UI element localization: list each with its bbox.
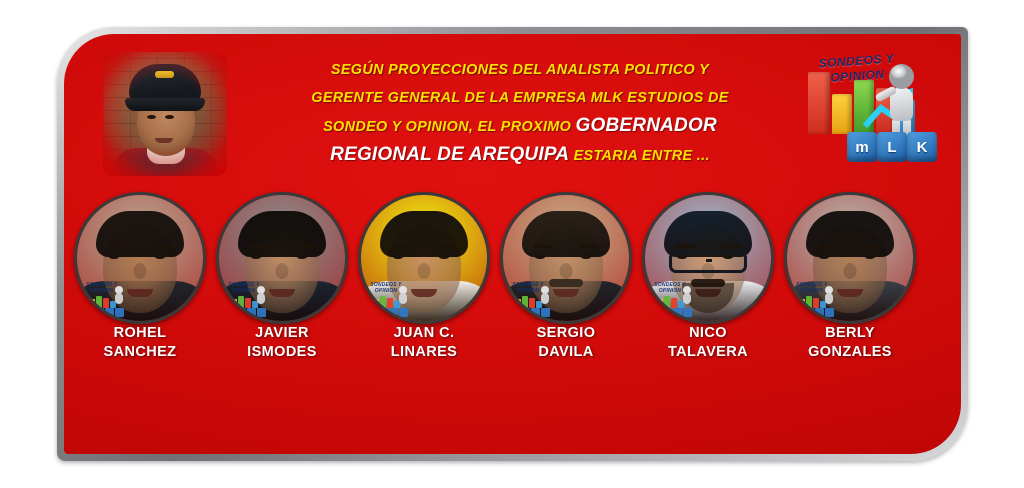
headline-line-3-prefix: SONDEO Y OPINION, EL PROXIMO [323,119,575,135]
logo-cube-l: L [877,132,907,162]
candidate-watermark-logo: SONDEOS YOPINION [365,283,411,317]
analyst-photo [103,52,227,176]
candidate-card[interactable]: SONDEOS YOPINIONJUAN C.LINARES [354,192,494,324]
candidate-card[interactable]: SONDEOS YOPINIONNICOTALAVERA [638,192,778,324]
candidate-watermark-logo: SONDEOS YOPINION [223,283,269,317]
candidate-watermark-logo: SONDEOS YOPINION [791,283,837,317]
candidate-watermark-logo: SONDEOS YOPINION [649,283,695,317]
candidate-last-name: DAVILA [496,343,636,362]
headline-line-4-suffix: ESTARIA ENTRE ... [569,148,710,164]
candidate-first-name: SERGIO [496,324,636,343]
candidate-first-name: BERLY [780,324,920,343]
candidate-card[interactable]: SONDEOS YOPINIONSERGIODAVILA [496,192,636,324]
analyst-photo-vignette [103,52,227,176]
poster-frame: SEGÚN PROYECCIONES DEL ANALISTA POLITICO… [57,27,968,461]
candidate-last-name: TALAVERA [638,343,778,362]
candidate-last-name: SANCHEZ [70,343,210,362]
candidate-portrait[interactable]: SONDEOS YOPINION [358,192,490,324]
candidate-portrait[interactable]: SONDEOS YOPINION [784,192,916,324]
headline-highlight-gobernador: GOBERNADOR [576,115,717,136]
candidate-last-name: ISMODES [212,343,352,362]
candidate-first-name: JUAN C. [354,324,494,343]
candidates-row: SONDEOS YOPINIONROHELSANCHEZSONDEOS YOPI… [64,192,961,312]
candidate-card[interactable]: SONDEOS YOPINIONBERLYGONZALES [780,192,920,324]
candidate-first-name: ROHEL [70,324,210,343]
poster-header: SEGÚN PROYECCIONES DEL ANALISTA POLITICO… [64,34,961,184]
candidate-card[interactable]: SONDEOS YOPINIONJAVIERISMODES [212,192,352,324]
candidate-portrait[interactable]: SONDEOS YOPINION [500,192,632,324]
headline-highlight-region: REGIONAL DE AREQUIPA [330,144,569,165]
candidate-portrait[interactable]: SONDEOS YOPINION [642,192,774,324]
headline-line-1: SEGÚN PROYECCIONES DEL ANALISTA POLITICO… [250,56,790,84]
logo-figure-icon [883,64,919,138]
mlk-logo: SONDEOS Y OPINION m [801,48,933,170]
candidate-name: BERLYGONZALES [780,324,920,362]
candidate-last-name: GONZALES [780,343,920,362]
logo-cube-k: K [907,132,937,162]
candidate-name: NICOTALAVERA [638,324,778,362]
candidate-portrait[interactable]: SONDEOS YOPINION [216,192,348,324]
logo-bar-1 [808,72,830,134]
logo-bar-2 [832,94,852,134]
headline-text: SEGÚN PROYECCIONES DEL ANALISTA POLITICO… [250,56,790,170]
headline-line-2: GERENTE GENERAL DE LA EMPRESA MLK ESTUDI… [250,84,790,112]
candidate-card[interactable]: SONDEOS YOPINIONROHELSANCHEZ [70,192,210,324]
candidate-watermark-logo: SONDEOS YOPINION [507,283,553,317]
candidate-name: SERGIODAVILA [496,324,636,362]
candidate-last-name: LINARES [354,343,494,362]
candidate-name: ROHELSANCHEZ [70,324,210,362]
candidate-name: JAVIERISMODES [212,324,352,362]
poster-panel: SEGÚN PROYECCIONES DEL ANALISTA POLITICO… [64,34,961,454]
headline-line-3: SONDEO Y OPINION, EL PROXIMO GOBERNADOR [250,112,790,141]
candidate-first-name: JAVIER [212,324,352,343]
candidate-first-name: NICO [638,324,778,343]
candidate-watermark-logo: SONDEOS YOPINION [81,283,127,317]
candidate-portrait[interactable]: SONDEOS YOPINION [74,192,206,324]
logo-cube-m: m [847,132,877,162]
candidate-name: JUAN C.LINARES [354,324,494,362]
headline-line-4: REGIONAL DE AREQUIPA ESTARIA ENTRE ... [250,141,790,170]
